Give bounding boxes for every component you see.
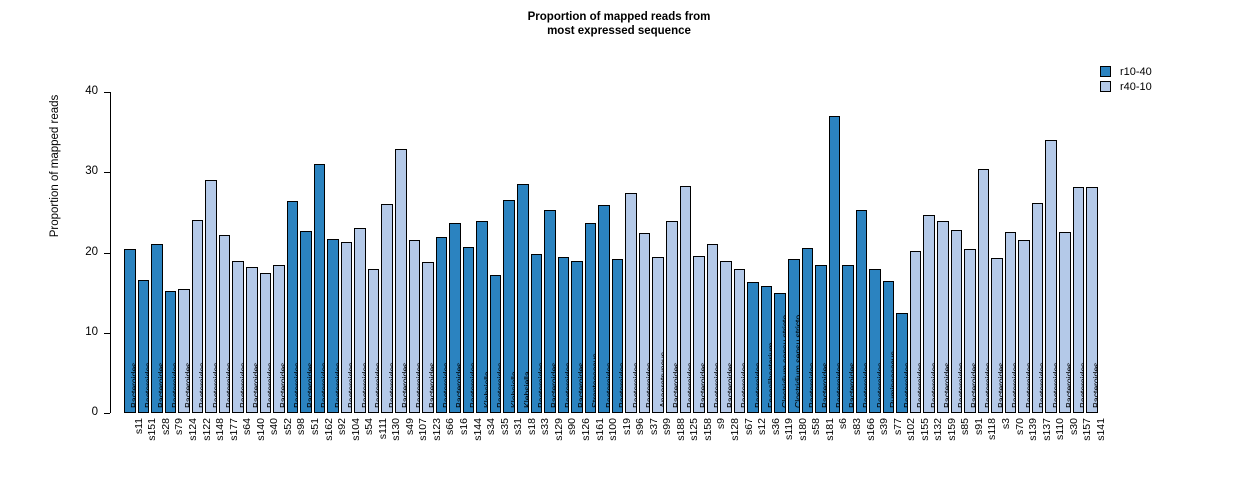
bar: Bacteroides — [381, 204, 393, 413]
bar-taxon-label: Bacteroides — [686, 363, 691, 408]
x-tick-label: s177 — [229, 418, 239, 441]
x-tick-label: s102 — [906, 418, 916, 441]
bar: Bacteroides — [300, 231, 312, 413]
bar: Bacteroides — [896, 313, 908, 413]
bar: Bacteroides — [1018, 240, 1030, 413]
bar-taxon-label: Bacteroides — [402, 363, 407, 408]
x-tick-label: s52 — [283, 418, 293, 435]
bar-taxon-label: Bacteroides — [429, 363, 434, 408]
bar: Clostridium sensu stricto — [774, 293, 786, 413]
bar-taxon-label: Klebsiella — [524, 371, 529, 408]
bar-taxon-label: Bacteroides — [1093, 363, 1098, 408]
bar-taxon-label: Bacteroides — [456, 363, 461, 408]
bar: Bacteroides — [937, 221, 949, 413]
bar-taxon-label: Bacteroides — [320, 363, 325, 408]
x-tick-label: s90 — [567, 418, 577, 435]
x-tick-label: s12 — [757, 418, 767, 435]
bar: Bacteroides — [327, 239, 339, 413]
bar-taxon-label: Bacteroides — [144, 363, 149, 408]
x-tick-label: s70 — [1015, 418, 1025, 435]
bar: Bacteroides — [436, 237, 448, 413]
bar-taxon-label: Bacteroides — [470, 363, 475, 408]
bar: Bacteroides — [260, 273, 272, 413]
x-tick-label: s123 — [432, 418, 442, 441]
bar-taxon-label: Bacteroides — [957, 363, 962, 408]
bar-taxon-label: Bacteroides — [876, 363, 881, 408]
bar: Bacteroides — [625, 193, 637, 413]
bar: Bacteroides — [165, 291, 177, 413]
x-tick-label: s180 — [798, 418, 808, 441]
bar: Bacteroides — [639, 233, 651, 413]
bar-taxon-label: Bacteroides — [998, 363, 1003, 408]
bar: Bacteroides — [1005, 232, 1017, 413]
bar: Bacteroides — [395, 149, 407, 413]
bar-taxon-label: Klebsiella — [510, 371, 515, 408]
bar-taxon-label: Bacteroides — [917, 363, 922, 408]
bar: Klebsiella — [476, 221, 488, 413]
bar: Clostridium sensu stricto — [788, 259, 800, 413]
bar-taxon-label: Streptococcus — [591, 354, 596, 408]
bar: Bacteroides — [734, 269, 746, 413]
x-tick-label: s157 — [1082, 418, 1092, 441]
x-tick-label: s137 — [1042, 418, 1052, 441]
bar-taxon-label: Bacteroides — [727, 363, 732, 408]
x-tick-label: s166 — [866, 418, 876, 441]
x-tick-label: s130 — [391, 418, 401, 441]
bar-taxon-label: Bacteroides — [212, 363, 217, 408]
bar-taxon-label: Bacteroides — [849, 363, 854, 408]
x-tick-label: s3 — [1001, 418, 1011, 429]
bar-taxon-label: Bacteroides — [646, 363, 651, 408]
bar: Bacteroides — [964, 249, 976, 414]
x-tick-label: s139 — [1028, 418, 1038, 441]
x-tick-label: s64 — [242, 418, 252, 435]
x-tick-label: s126 — [581, 418, 591, 441]
bar: Bacteroides — [287, 201, 299, 413]
x-tick-label: s162 — [324, 418, 334, 441]
x-tick-label: s144 — [473, 418, 483, 441]
x-tick-label: s66 — [445, 418, 455, 435]
bar-taxon-label: Bacteroides — [226, 363, 231, 408]
bar-taxon-label: Bacteroides — [971, 363, 976, 408]
bar: Bacteroides — [192, 220, 204, 413]
bar: Bacteroides — [490, 275, 502, 413]
bar: Bacteroides — [354, 228, 366, 413]
bar: Klebsiella — [517, 184, 529, 414]
bar: Bacteroides — [409, 240, 421, 413]
bar-taxon-label: Bacteroides — [1052, 363, 1057, 408]
x-tick-label: s9 — [716, 418, 726, 429]
bar: Bacteroides — [680, 186, 692, 413]
bar: Bacteroides — [978, 169, 990, 413]
bar: Bacteroides — [707, 244, 719, 413]
x-tick-label: s110 — [1055, 418, 1065, 440]
bar-taxon-label: Bacteroides — [632, 363, 637, 408]
bar: Bacteroides — [802, 248, 814, 413]
bar: Bacteroides — [747, 282, 759, 413]
bar-taxon-label: Ruminococcus — [890, 351, 895, 408]
x-tick-label: s33 — [540, 418, 550, 435]
bar: Bacteroides — [869, 269, 881, 413]
x-tick-label: s19 — [622, 418, 632, 435]
x-tick-label: s35 — [500, 418, 510, 435]
bar-taxon-label: Faecalibacterium — [768, 343, 773, 408]
x-tick-label: s140 — [256, 418, 266, 441]
bar: Bacteroides — [571, 261, 583, 413]
x-tick-label: s83 — [852, 418, 862, 435]
bar-taxon-label: Bacteroides — [1066, 363, 1071, 408]
x-tick-label: s40 — [269, 418, 279, 435]
bar: Bacteroides — [314, 164, 326, 413]
bar-taxon-label: Bacteroides — [605, 363, 610, 408]
bar-taxon-label: Klebsiella — [483, 371, 488, 408]
x-tick-label: s122 — [202, 418, 212, 441]
bar-taxon-label: Bacteroides — [415, 363, 420, 408]
bar: Bacteroides — [246, 267, 258, 413]
bar-taxon-label: Bacteroides — [131, 363, 136, 408]
bar-taxon-label: Bacteroides — [984, 363, 989, 408]
bar: Bacteroides — [910, 251, 922, 413]
bar: Bacteroides — [232, 261, 244, 413]
bar-taxon-label: Bacteroides — [253, 363, 258, 408]
x-tick-label: s158 — [703, 418, 713, 441]
bar-taxon-label: Bacteroides — [1039, 363, 1044, 408]
bar-taxon-label: Bacteroides — [537, 363, 542, 408]
x-tick-label: s98 — [296, 418, 306, 435]
bar: Bacteroides — [1073, 187, 1085, 413]
x-tick-label: s155 — [920, 418, 930, 441]
bar-taxon-label: Clostridium sensu stricto — [781, 315, 786, 408]
x-tick-label: s79 — [174, 418, 184, 435]
x-tick-label: s118 — [987, 418, 997, 440]
x-tick-label: s161 — [595, 418, 605, 441]
x-tick-label: s104 — [351, 418, 361, 441]
bar: Bacteroides — [1032, 203, 1044, 413]
bar: Bacteroides — [178, 289, 190, 413]
x-tick-label: s67 — [744, 418, 754, 435]
bar-taxon-label: Clostridium sensu stricto — [795, 315, 800, 408]
x-tick-label: s124 — [188, 418, 198, 441]
x-tick-label: s39 — [879, 418, 889, 435]
bar: Bacteroides — [693, 256, 705, 413]
bar-taxon-label: Bacteroides — [185, 363, 190, 408]
bar: Bacteroides — [531, 254, 543, 413]
x-tick-label: s181 — [825, 418, 835, 441]
x-tick-label: s92 — [337, 418, 347, 435]
bar: Bacteroides — [124, 249, 136, 414]
bar-taxon-label: Bacteroides — [348, 363, 353, 408]
x-tick-label: s85 — [960, 418, 970, 435]
bar: Bacteroides — [842, 265, 854, 413]
bar-taxon-label: Bacteroides — [862, 363, 867, 408]
bar-taxon-label: Bacteroides — [564, 363, 569, 408]
bar-taxon-label: Bacteroides — [280, 363, 285, 408]
x-tick-label: s159 — [947, 418, 957, 441]
bar-taxon-label: Bacteroides — [361, 363, 366, 408]
x-tick-label: s36 — [771, 418, 781, 435]
x-tick-label: s129 — [554, 418, 564, 441]
bar-taxon-label: Bacteroides — [713, 363, 718, 408]
x-tick-label: s119 — [784, 418, 794, 440]
bar-taxon-label: Bacteroides — [673, 363, 678, 408]
bar-taxon-label: Anaerotruncus — [659, 352, 664, 408]
x-tick-label: s16 — [459, 418, 469, 435]
bar: Bacteroides — [720, 261, 732, 413]
bar-taxon-label: Bacteroides — [442, 363, 447, 408]
bar-taxon-label: Bacteroides — [808, 363, 813, 408]
bar-taxon-label: Bacteroides — [741, 363, 746, 408]
bar: Bacteroides — [1086, 187, 1098, 413]
x-tick-label: s99 — [662, 418, 672, 435]
bar-taxon-label: Bacteroides — [578, 363, 583, 408]
bar: Bacteroides — [219, 235, 231, 413]
bar-taxon-label: Bacteroides — [903, 363, 908, 408]
chart-canvas: Proportion of mapped reads from most exp… — [0, 0, 1238, 500]
x-tick-label: s28 — [161, 418, 171, 435]
bar: Bacteroides — [341, 242, 353, 413]
bar-taxon-label: Bacteroides — [171, 363, 176, 408]
bar: Klebsiella — [503, 200, 515, 413]
bar: Bacteroides — [666, 221, 678, 413]
bar: Bacteroides — [598, 205, 610, 413]
bar: Bacteroides — [991, 258, 1003, 413]
bar-taxon-label: Bacteroides — [930, 363, 935, 408]
x-tick-label: s125 — [689, 418, 699, 441]
x-tick-label: s31 — [513, 418, 523, 435]
x-tick-label: s34 — [486, 418, 496, 435]
x-tick-label: s107 — [418, 418, 428, 441]
bar: Bacteroides — [449, 223, 461, 413]
x-tick-label: s6 — [838, 418, 848, 429]
bar-taxon-label: Bacteroides — [239, 363, 244, 408]
bar-taxon-label: Bacteroides — [293, 363, 298, 408]
bar: Bacteroides — [463, 247, 475, 413]
x-tick-label: s111 — [378, 418, 388, 439]
bar-taxon-label: Bacteroides — [1025, 363, 1030, 408]
bar-taxon-label: Bacteroides — [375, 363, 380, 408]
bar: Bacteroides — [829, 116, 841, 413]
bar: Bacteroides — [544, 210, 556, 413]
bar-taxon-label: Bacteroides — [944, 363, 949, 408]
bar: Bacteroides — [151, 244, 163, 413]
bar-taxon-label: Bacteroides — [199, 363, 204, 408]
bar-taxon-label: Bacteroides — [754, 363, 759, 408]
bar: Bacteroides — [856, 210, 868, 413]
bar: Streptococcus — [585, 223, 597, 413]
x-tick-label: s128 — [730, 418, 740, 441]
x-tick-label: s58 — [811, 418, 821, 435]
bar: Bacteroides — [138, 280, 150, 413]
bar: Bacteroides — [951, 230, 963, 413]
x-tick-label: s91 — [974, 418, 984, 435]
x-tick-label: s54 — [364, 418, 374, 435]
bar-taxon-label: Bacteroides — [307, 363, 312, 408]
bar: Bacteroides — [1059, 232, 1071, 413]
bar-taxon-label: Bacteroides — [334, 363, 339, 408]
bar-taxon-label: Bacteroides — [1079, 363, 1084, 408]
x-tick-label: s188 — [676, 418, 686, 441]
bar: Anaerotruncus — [652, 257, 664, 413]
x-tick-label: s100 — [608, 418, 618, 441]
x-tick-label: s77 — [893, 418, 903, 435]
bar-taxon-label: Bacteroides — [835, 363, 840, 408]
bar-taxon-label: Bacteroides — [497, 363, 502, 408]
plot-area: Bacteroidess11Bacteroidess151Bacteroides… — [0, 0, 1238, 500]
bar-taxon-label: Bacteroides — [822, 363, 827, 408]
bar-taxon-label: Bacteroides — [700, 363, 705, 408]
bar-taxon-label: Bacteroides — [388, 363, 393, 408]
x-tick-label: s49 — [405, 418, 415, 435]
bar-taxon-label: Bacteroides — [266, 363, 271, 408]
bar-taxon-label: Bacteroides — [619, 363, 624, 408]
bar: Bacteroides — [923, 215, 935, 413]
bar: Bacteroides — [273, 265, 285, 413]
bar-taxon-label: Bacteroides — [551, 363, 556, 408]
bar: Bacteroides — [612, 259, 624, 413]
x-tick-label: s141 — [1096, 418, 1106, 441]
x-tick-label: s18 — [527, 418, 537, 435]
bar-taxon-label: Bacteroides — [1012, 363, 1017, 408]
x-tick-label: s37 — [649, 418, 659, 435]
x-tick-label: s51 — [310, 418, 320, 435]
bar: Bacteroides — [1045, 140, 1057, 413]
x-tick-label: s132 — [933, 418, 943, 441]
x-tick-label: s96 — [635, 418, 645, 435]
bar: Ruminococcus — [883, 281, 895, 413]
bar: Faecalibacterium — [761, 286, 773, 413]
x-tick-label: s11 — [134, 418, 144, 434]
bar: Bacteroides — [422, 262, 434, 413]
bar: Bacteroides — [558, 257, 570, 413]
bar: Bacteroides — [368, 269, 380, 413]
x-tick-label: s30 — [1069, 418, 1079, 435]
x-tick-label: s151 — [147, 418, 157, 441]
bar-taxon-label: Bacteroides — [158, 363, 163, 408]
x-tick-label: s148 — [215, 418, 225, 441]
bar: Bacteroides — [815, 265, 827, 413]
bar: Bacteroides — [205, 180, 217, 413]
